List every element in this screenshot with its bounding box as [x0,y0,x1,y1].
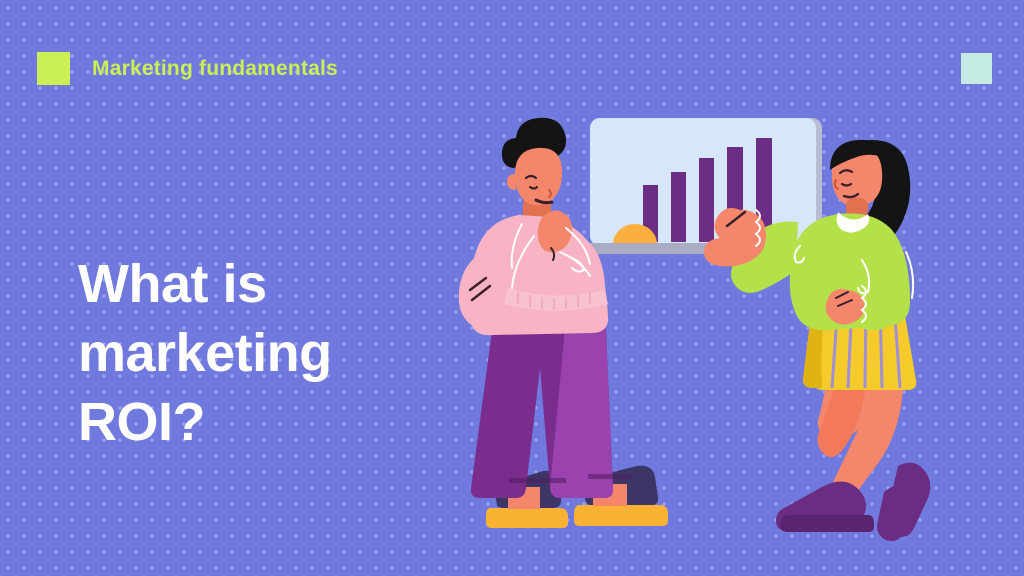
left-person-shoe-back-sole [486,508,568,528]
chart-bar-3 [699,158,714,242]
left-person-ear [507,174,516,190]
chart-bar-2 [671,172,686,242]
eyebrow-label: Marketing fundamentals [92,58,338,79]
eyebrow-row: Marketing fundamentals [37,52,338,85]
left-person-cuff-back [509,478,566,483]
left-person-face [515,148,562,205]
page-title: What is marketing ROI? [78,250,408,457]
right-person-shoe-front-sole [780,515,874,532]
left-person-cuff-front [588,474,632,479]
slide-canvas: Marketing fundamentals What is marketing… [0,0,1024,576]
eyebrow-accent-square [37,52,70,85]
corner-accent-square [961,53,992,84]
left-person-shoe-front-sole [574,505,668,526]
